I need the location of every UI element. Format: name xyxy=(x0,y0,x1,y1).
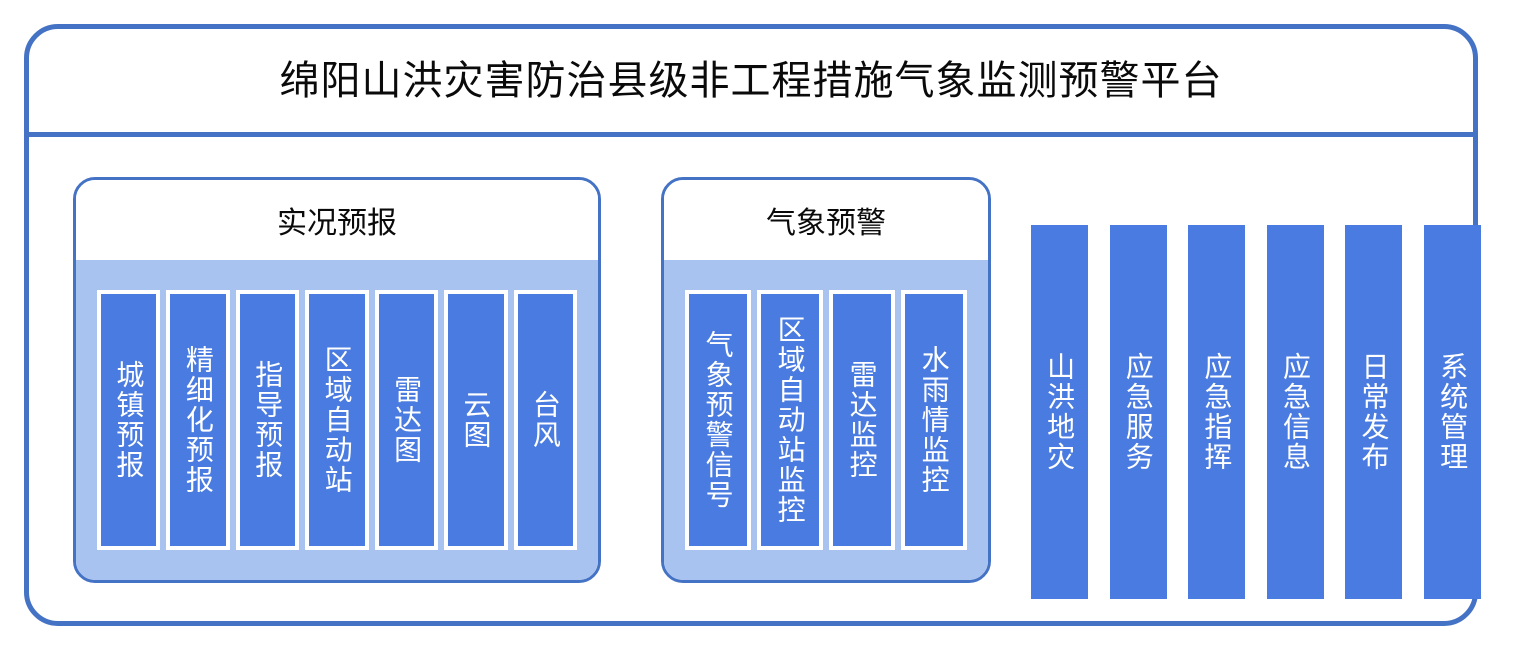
platform-title-bar: 绵阳山洪灾害防治县级非工程措施气象监测预警平台 xyxy=(29,29,1473,132)
module-leida-jiankong[interactable]: 雷达监控 xyxy=(829,290,895,550)
panel-header-live-forecast: 实况预报 xyxy=(76,180,598,260)
module-label: 云图 xyxy=(460,390,491,450)
module-xitong-guanli[interactable]: 系统管理 xyxy=(1424,225,1481,599)
module-qixiang-yujing-xinhao[interactable]: 气象预警信号 xyxy=(685,290,751,550)
module-yingji-zhihui[interactable]: 应急指挥 xyxy=(1188,225,1245,599)
panel-title-live-forecast: 实况预报 xyxy=(277,198,397,242)
panel-body-live-forecast: 城镇预报 精细化预报 指导预报 区域自动站 雷达图 云图 台风 xyxy=(76,260,598,580)
module-yingji-fuwu[interactable]: 应急服务 xyxy=(1110,225,1167,599)
module-zhidao-yubao[interactable]: 指导预报 xyxy=(236,290,299,550)
module-leidatu[interactable]: 雷达图 xyxy=(375,290,438,550)
panel-body-weather-warning: 气象预警信号 区域自动站监控 雷达监控 水雨情监控 xyxy=(664,260,988,580)
module-label: 区域自动站监控 xyxy=(774,315,805,525)
module-label: 台风 xyxy=(530,390,561,450)
module-label: 日常发布 xyxy=(1358,352,1389,472)
panel-live-forecast: 实况预报 城镇预报 精细化预报 指导预报 区域自动站 雷达图 xyxy=(73,177,601,583)
module-shuiyuqing-jiankong[interactable]: 水雨情监控 xyxy=(901,290,967,550)
panel-title-weather-warning: 气象预警 xyxy=(766,198,886,242)
title-divider xyxy=(29,132,1473,137)
module-quyu-zidongzhan[interactable]: 区域自动站 xyxy=(305,290,368,550)
module-quyu-zidongzhan-jiankong[interactable]: 区域自动站监控 xyxy=(757,290,823,550)
panel-weather-warning: 气象预警 气象预警信号 区域自动站监控 雷达监控 水雨情监控 xyxy=(661,177,991,583)
module-label: 水雨情监控 xyxy=(918,345,949,495)
module-shanhong-dizai[interactable]: 山洪地灾 xyxy=(1031,225,1088,599)
platform-frame: 绵阳山洪灾害防治县级非工程措施气象监测预警平台 实况预报 城镇预报 精细化预报 … xyxy=(24,24,1478,626)
module-yuntu[interactable]: 云图 xyxy=(444,290,507,550)
module-label: 雷达监控 xyxy=(846,360,877,480)
page-title: 绵阳山洪灾害防治县级非工程措施气象监测预警平台 xyxy=(280,61,1223,101)
module-richang-fabu[interactable]: 日常发布 xyxy=(1345,225,1402,599)
module-label: 气象预警信号 xyxy=(702,330,733,510)
module-taifeng[interactable]: 台风 xyxy=(514,290,577,550)
module-label: 雷达图 xyxy=(391,375,422,465)
module-yingji-xinxi[interactable]: 应急信息 xyxy=(1267,225,1324,599)
module-jingxihua-yubao[interactable]: 精细化预报 xyxy=(166,290,229,550)
module-label: 区域自动站 xyxy=(321,345,352,495)
module-label: 指导预报 xyxy=(252,360,283,480)
module-label: 应急指挥 xyxy=(1201,352,1232,472)
module-label: 系统管理 xyxy=(1437,352,1468,472)
module-strip: 山洪地灾 应急服务 应急指挥 应急信息 日常发布 系统管理 xyxy=(1031,225,1481,599)
module-label: 应急服务 xyxy=(1122,352,1153,472)
module-label: 应急信息 xyxy=(1280,352,1311,472)
module-label: 山洪地灾 xyxy=(1044,352,1075,472)
module-label: 精细化预报 xyxy=(182,345,213,495)
panel-header-weather-warning: 气象预警 xyxy=(664,180,988,260)
module-chengzhen-yubao[interactable]: 城镇预报 xyxy=(97,290,160,550)
module-label: 城镇预报 xyxy=(113,360,144,480)
diagram-root: 绵阳山洪灾害防治县级非工程措施气象监测预警平台 实况预报 城镇预报 精细化预报 … xyxy=(0,0,1518,654)
